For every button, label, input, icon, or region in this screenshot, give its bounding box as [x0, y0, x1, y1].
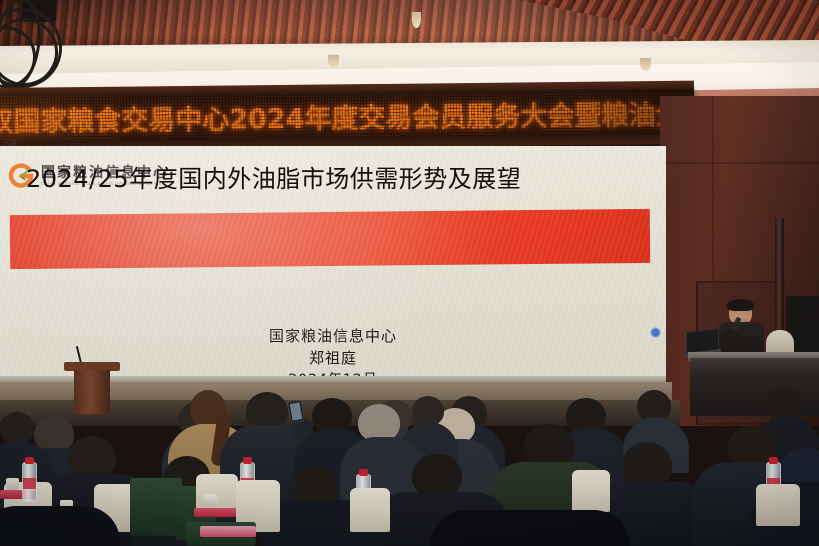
slide-title: 2024/25年度国内外油脂市场供需形势及展望 [26, 159, 521, 194]
projection-screen: 国家粮油信息中心 China National Grain & Oils Inf… [0, 146, 666, 380]
speaker-stand-pole [775, 218, 784, 348]
led-banner-text: 双国家粮食交易中心2024年度交易会员服务大会暨粮油企业座谈会 [0, 93, 694, 139]
smartphone[interactable] [287, 400, 304, 423]
paper-cup [6, 478, 19, 490]
presenter-organization: 国家粮油信息中心 [0, 326, 666, 348]
presenter-person [718, 300, 764, 358]
paper-cup [204, 494, 217, 506]
conference-photo-scene: 双国家粮食交易中心2024年度交易会员服务大会暨粮油企业座谈会 国家粮油信息中心… [0, 0, 819, 546]
chair [756, 484, 800, 526]
chair [572, 470, 610, 512]
chair-back-green [130, 478, 182, 536]
pink-folder [200, 526, 256, 537]
water-bottle [22, 462, 37, 502]
audience-area [0, 370, 819, 546]
slide-title-band [10, 209, 650, 269]
projector-cursor-dot [650, 327, 661, 338]
chair [350, 488, 390, 532]
red-folder [194, 508, 242, 517]
